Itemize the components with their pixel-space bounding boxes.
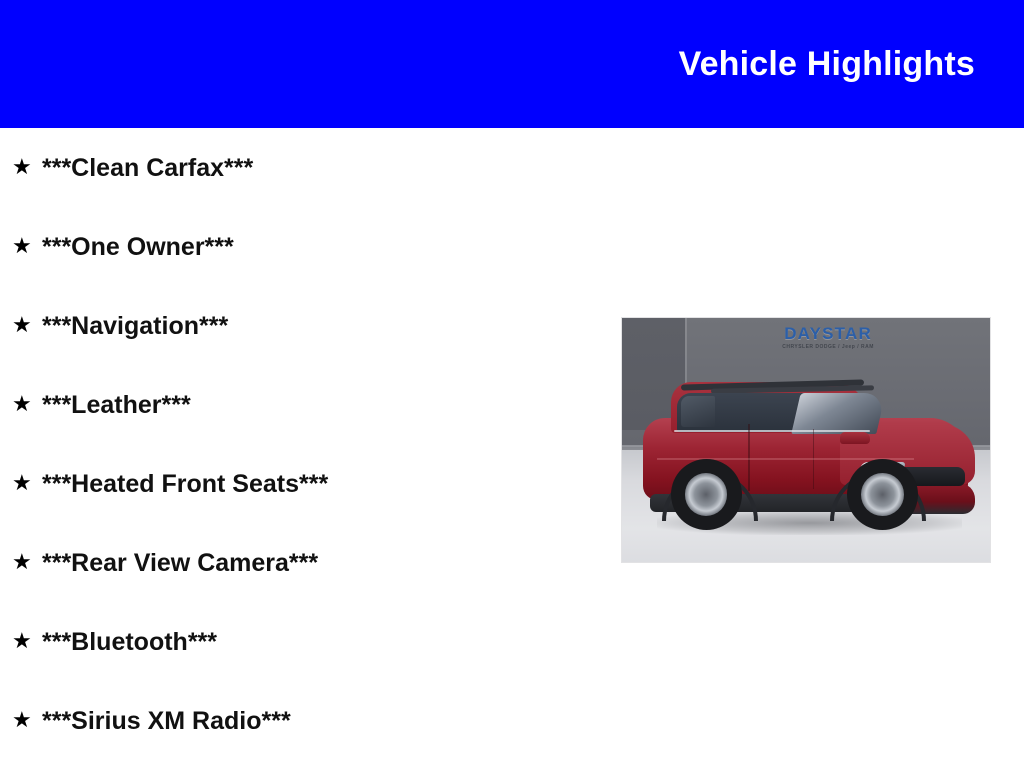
car-illustration [637, 379, 976, 530]
highlight-label: ***Sirius XM Radio*** [42, 707, 291, 735]
wheel-front [847, 459, 918, 530]
rear-quarter-window [681, 396, 715, 428]
star-icon: ★ [12, 552, 42, 574]
showroom-scene: DAYSTAR CHRYSLER DODGE / Jeep / RAM [622, 318, 990, 562]
star-icon: ★ [12, 710, 42, 732]
star-icon: ★ [12, 473, 42, 495]
windshield [791, 393, 885, 434]
highlight-label: ***Heated Front Seats*** [42, 470, 328, 498]
list-item: ★ ***Sirius XM Radio*** [0, 681, 600, 760]
vehicle-highlights-list: ★ ***Clean Carfax*** ★ ***One Owner*** ★… [0, 128, 600, 760]
list-item: ★ ***Rear View Camera*** [0, 523, 600, 602]
list-item: ★ ***Leather*** [0, 365, 600, 444]
star-icon: ★ [12, 157, 42, 179]
star-icon: ★ [12, 394, 42, 416]
list-item: ★ ***Bluetooth*** [0, 602, 600, 681]
header-band: Vehicle Highlights [0, 0, 1024, 128]
dealer-sign: DAYSTAR CHRYSLER DODGE / Jeep / RAM [747, 325, 909, 350]
vehicle-photo: DAYSTAR CHRYSLER DODGE / Jeep / RAM [621, 317, 991, 563]
list-item: ★ ***Clean Carfax*** [0, 128, 600, 207]
wheel-rear [671, 459, 742, 530]
highlight-label: ***Rear View Camera*** [42, 549, 318, 577]
highlight-label: ***Leather*** [42, 391, 191, 419]
page-title: Vehicle Highlights [679, 44, 975, 84]
highlight-label: ***One Owner*** [42, 233, 234, 261]
side-mirror [840, 432, 870, 444]
list-item: ★ ***One Owner*** [0, 207, 600, 286]
dealer-name: DAYSTAR [747, 325, 909, 343]
dealer-brands: CHRYSLER DODGE / Jeep / RAM [747, 344, 909, 350]
list-item: ★ ***Heated Front Seats*** [0, 444, 600, 523]
list-item: ★ ***Navigation*** [0, 286, 600, 365]
star-icon: ★ [12, 631, 42, 653]
star-icon: ★ [12, 315, 42, 337]
star-icon: ★ [12, 236, 42, 258]
highlight-label: ***Bluetooth*** [42, 628, 217, 656]
highlight-label: ***Navigation*** [42, 312, 228, 340]
highlight-label: ***Clean Carfax*** [42, 154, 253, 182]
